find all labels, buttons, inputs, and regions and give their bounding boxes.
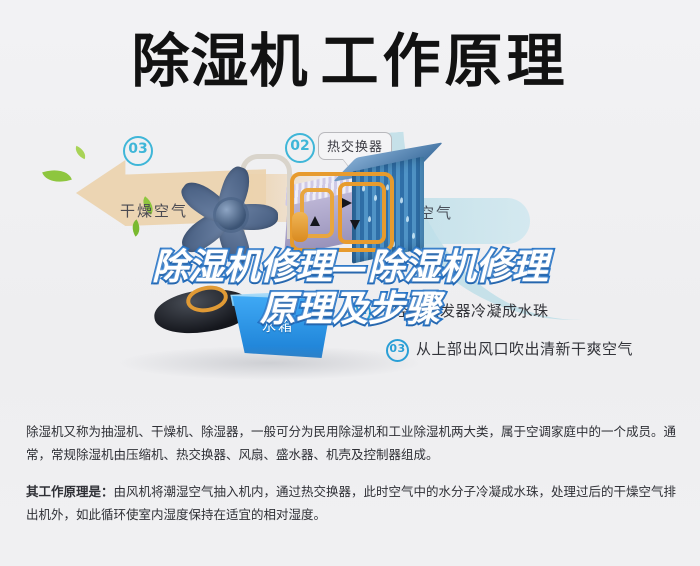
refrigerant-pipe-icon bbox=[338, 182, 386, 244]
body-paragraph-2-text: 由风机将潮湿空气抽入机内，通过热交换器，此时空气中的水分子冷凝成水珠，处理过后的… bbox=[26, 484, 676, 522]
step-line-03: 03从上部出风口吹出清新干爽空气 bbox=[386, 338, 633, 362]
page-title-part1: 除湿机 bbox=[131, 27, 308, 95]
page-title: 除湿机工作原理 bbox=[0, 28, 700, 94]
fan-hub-icon bbox=[216, 200, 246, 230]
step-badge-02: 02 bbox=[348, 301, 371, 324]
badge-02: 02 bbox=[285, 133, 315, 163]
step-text-03: 从上部出风口吹出清新干爽空气 bbox=[416, 340, 633, 358]
body-paragraph-2-lead: 其工作原理是： bbox=[26, 484, 114, 499]
leaf-icon bbox=[73, 146, 89, 160]
water-tank-label: 水箱 bbox=[262, 316, 294, 336]
diagram-shadow bbox=[120, 346, 420, 380]
receiver-drier-icon bbox=[292, 212, 308, 242]
flow-arrow-right-icon bbox=[342, 198, 352, 208]
page-title-part2: 工作原理 bbox=[321, 27, 569, 95]
body-paragraph-2: 其工作原理是：由风机将潮湿空气抽入机内，通过热交换器，此时空气中的水分子冷凝成水… bbox=[26, 480, 678, 526]
article-body: 除湿机又称为抽湿机、干燥机、除湿器，一般可分为民用除湿机和工业除湿机两大类，属于… bbox=[26, 420, 678, 526]
step-text-02: 气经过蒸发器冷凝成水珠 bbox=[378, 302, 549, 320]
article-image-page: 除湿机工作原理 干燥空气 潮湿空气 03 02 01 热交换器 bbox=[0, 0, 700, 566]
step-line-02: 02气经过蒸发器冷凝成水珠 bbox=[348, 300, 549, 324]
body-paragraph-1: 除湿机又称为抽湿机、干燥机、除湿器，一般可分为民用除湿机和工业除湿机两大类，属于… bbox=[26, 420, 678, 466]
flow-arrow-down-icon bbox=[350, 220, 360, 230]
step-badge-03: 03 bbox=[386, 339, 409, 362]
flow-arrow-up-icon bbox=[310, 216, 320, 226]
leaf-icon bbox=[42, 164, 72, 187]
badge-03: 03 bbox=[123, 136, 153, 166]
dehumidifier-diagram: 干燥空气 潮湿空气 03 02 01 热交换器 bbox=[0, 120, 700, 410]
fan-icon bbox=[176, 164, 288, 268]
